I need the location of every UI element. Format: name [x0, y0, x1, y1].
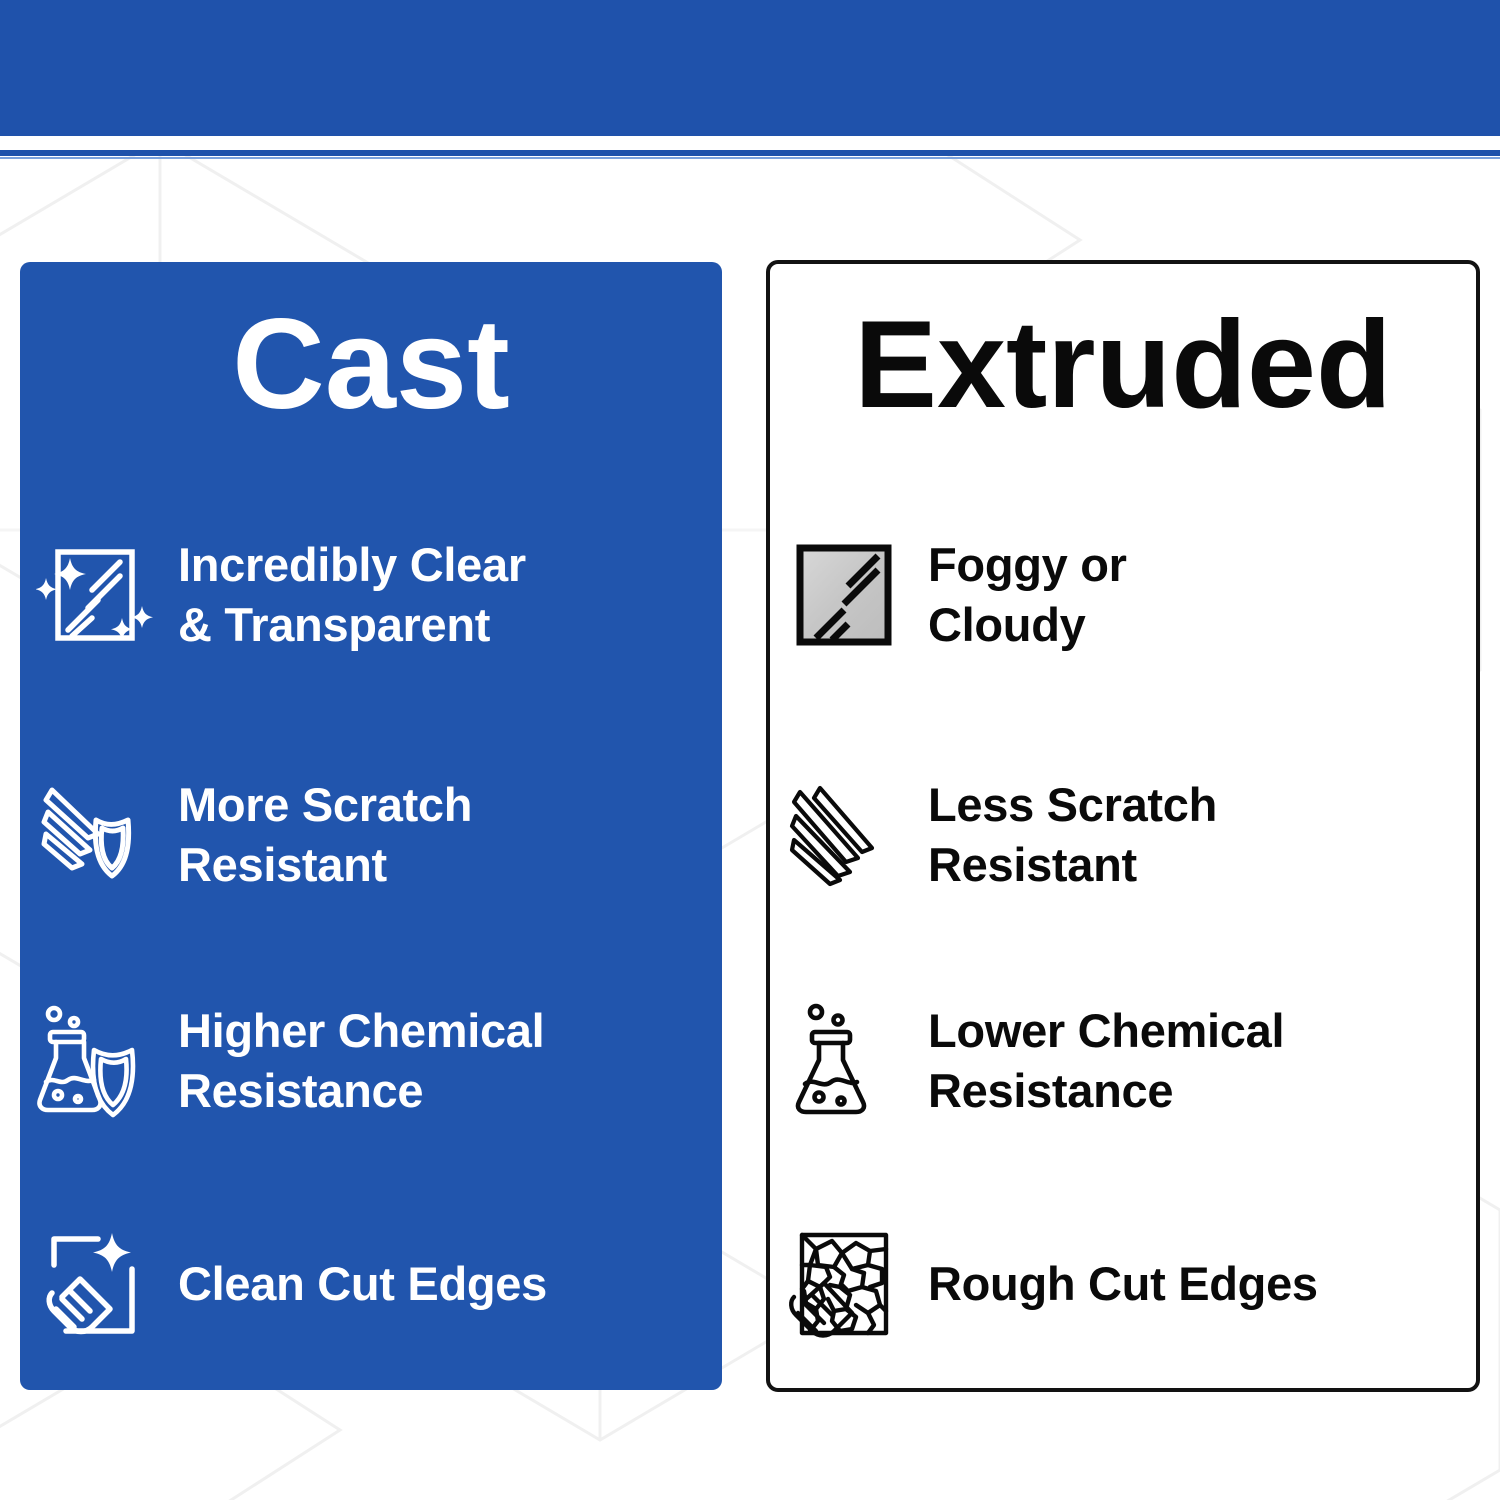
clear-glass-sparkle-icon [36, 536, 154, 654]
header-divider-thin [0, 157, 1500, 159]
list-item: More Scratch Resistant [36, 762, 716, 908]
scratch-shield-icon [36, 776, 154, 894]
list-item: Lower Chemical Resistance [786, 988, 1476, 1134]
clean-cut-edge-icon [36, 1225, 154, 1343]
list-item: Clean Cut Edges [36, 1214, 716, 1354]
list-item-label: Rough Cut Edges [928, 1254, 1318, 1314]
list-item: Rough Cut Edges [786, 1214, 1476, 1354]
list-item: Foggy or Cloudy [786, 522, 1476, 668]
list-item: Less Scratch Resistant [786, 762, 1476, 908]
list-item-label: Incredibly Clear & Transparent [178, 535, 526, 655]
flask-icon [786, 1002, 904, 1120]
list-item: Incredibly Clear & Transparent [36, 522, 716, 668]
flask-shield-icon [36, 1002, 154, 1120]
infographic-page: Cast Acrylic Benefits Cast Extruded [0, 0, 1500, 1500]
rough-cut-edge-icon [786, 1225, 904, 1343]
cast-column-heading: Cast [20, 300, 722, 430]
header-divider-thick [0, 150, 1500, 156]
list-item-label: Less Scratch Resistant [928, 775, 1217, 895]
list-item-label: Higher Chemical Resistance [178, 1001, 544, 1121]
scratch-marks-icon [786, 776, 904, 894]
list-item-label: Foggy or Cloudy [928, 535, 1127, 655]
header-bar [0, 0, 1500, 136]
list-item: Higher Chemical Resistance [36, 988, 716, 1134]
list-item-label: Lower Chemical Resistance [928, 1001, 1284, 1121]
extruded-column-heading: Extruded [766, 300, 1480, 430]
foggy-glass-icon [786, 536, 904, 654]
list-item-label: Clean Cut Edges [178, 1254, 547, 1314]
list-item-label: More Scratch Resistant [178, 775, 472, 895]
